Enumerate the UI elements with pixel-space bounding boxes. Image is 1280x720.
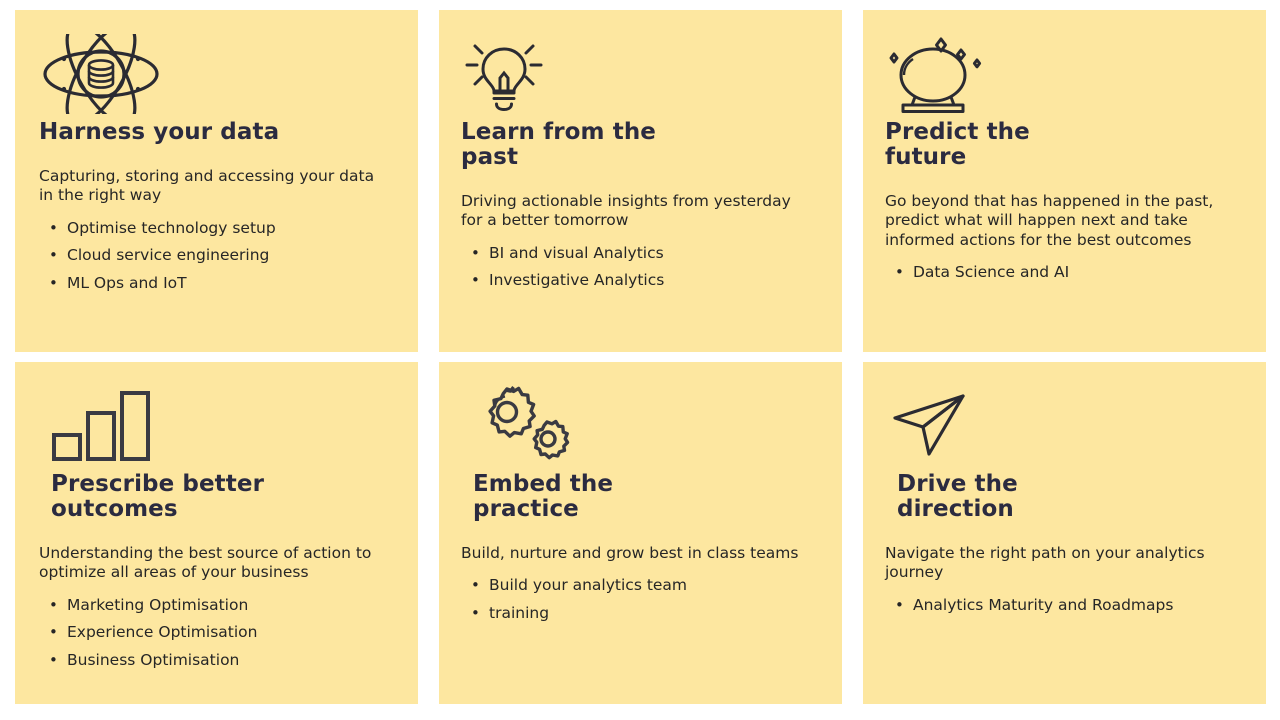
card-content: Learn from the past Driving actionable i…	[439, 10, 842, 352]
list-item: •BI and visual Analytics	[461, 244, 820, 263]
card-learn-from-the-past[interactable]: Learn from the past Driving actionable i…	[439, 10, 842, 352]
card-title: Embed the practice	[473, 472, 703, 522]
list-item: •Business Optimisation	[39, 651, 396, 670]
card-bullet-list: •Optimise technology setup •Cloud servic…	[39, 210, 396, 294]
list-item: •Build your analytics team	[461, 576, 820, 595]
list-item: •Experience Optimisation	[39, 623, 396, 642]
list-item-label: Experience Optimisation	[67, 623, 367, 642]
card-prescribe-better-outcomes[interactable]: Prescribe better outcomes Understanding …	[15, 362, 418, 704]
bullet-glyph: •	[461, 576, 489, 594]
list-item: •ML Ops and IoT	[39, 274, 396, 293]
card-description: Build, nurture and grow best in class te…	[461, 544, 813, 563]
bullet-glyph: •	[461, 244, 489, 262]
lightbulb-icon	[461, 28, 820, 120]
card-content: Harness your data Capturing, storing and…	[15, 10, 418, 352]
list-item-label: ML Ops and IoT	[67, 274, 367, 293]
card-content: Drive the direction Navigate the right p…	[863, 362, 1266, 704]
list-item-label: Marketing Optimisation	[67, 596, 367, 615]
list-item-label: Cloud service engineering	[67, 246, 367, 265]
card-content: Prescribe better outcomes Understanding …	[15, 362, 418, 704]
list-item: •Data Science and AI	[885, 263, 1244, 282]
list-item-label: training	[489, 604, 789, 623]
list-item-label: Business Optimisation	[67, 651, 367, 670]
card-predict-the-future[interactable]: Predict the future Go beyond that has ha…	[863, 10, 1266, 352]
bullet-glyph: •	[885, 596, 913, 614]
card-drive-the-direction[interactable]: Drive the direction Navigate the right p…	[863, 362, 1266, 704]
card-description: Capturing, storing and accessing your da…	[39, 167, 391, 205]
bar-chart-icon	[39, 380, 396, 472]
card-bullet-list: •Analytics Maturity and Roadmaps	[885, 587, 1244, 615]
card-bullet-list: •BI and visual Analytics •Investigative …	[461, 235, 820, 291]
card-content: Predict the future Go beyond that has ha…	[863, 10, 1266, 352]
card-title: Learn from the past	[461, 120, 691, 170]
list-item-label: BI and visual Analytics	[489, 244, 789, 263]
list-item: •Investigative Analytics	[461, 271, 820, 290]
bullet-glyph: •	[39, 623, 67, 641]
card-title: Predict the future	[885, 120, 1115, 170]
list-item-label: Data Science and AI	[913, 263, 1213, 282]
bullet-glyph: •	[39, 219, 67, 237]
card-title: Drive the direction	[897, 472, 1127, 522]
list-item-label: Build your analytics team	[489, 576, 789, 595]
bullet-glyph: •	[885, 263, 913, 281]
card-embed-the-practice[interactable]: Embed the practice Build, nurture and gr…	[439, 362, 842, 704]
card-title: Prescribe better outcomes	[51, 472, 331, 522]
card-title: Harness your data	[39, 120, 339, 145]
list-item: •training	[461, 604, 820, 623]
card-content: Embed the practice Build, nurture and gr…	[439, 362, 842, 704]
list-item: •Marketing Optimisation	[39, 596, 396, 615]
list-item-label: Optimise technology setup	[67, 219, 367, 238]
card-bullet-list: •Build your analytics team •training	[461, 567, 820, 623]
card-bullet-list: •Marketing Optimisation •Experience Opti…	[39, 587, 396, 671]
card-description: Go beyond that has happened in the past,…	[885, 192, 1237, 250]
bullet-glyph: •	[39, 274, 67, 292]
card-description: Understanding the best source of action …	[39, 544, 391, 582]
bullet-glyph: •	[461, 604, 489, 622]
bullet-glyph: •	[39, 246, 67, 264]
bullet-glyph: •	[39, 651, 67, 669]
list-item: •Analytics Maturity and Roadmaps	[885, 596, 1244, 615]
list-item: •Cloud service engineering	[39, 246, 396, 265]
atom-database-icon	[39, 28, 396, 120]
bullet-glyph: •	[39, 596, 67, 614]
list-item: •Optimise technology setup	[39, 219, 396, 238]
capability-card-grid: Harness your data Capturing, storing and…	[15, 10, 1265, 704]
card-harness-your-data[interactable]: Harness your data Capturing, storing and…	[15, 10, 418, 352]
list-item-label: Analytics Maturity and Roadmaps	[913, 596, 1213, 615]
list-item-label: Investigative Analytics	[489, 271, 789, 290]
card-bullet-list: •Data Science and AI	[885, 254, 1244, 282]
crystal-ball-icon	[885, 28, 1244, 120]
paper-plane-icon	[885, 380, 1244, 472]
card-description: Navigate the right path on your analytic…	[885, 544, 1237, 582]
card-description: Driving actionable insights from yesterd…	[461, 192, 813, 230]
gears-icon	[461, 380, 820, 472]
bullet-glyph: •	[461, 271, 489, 289]
